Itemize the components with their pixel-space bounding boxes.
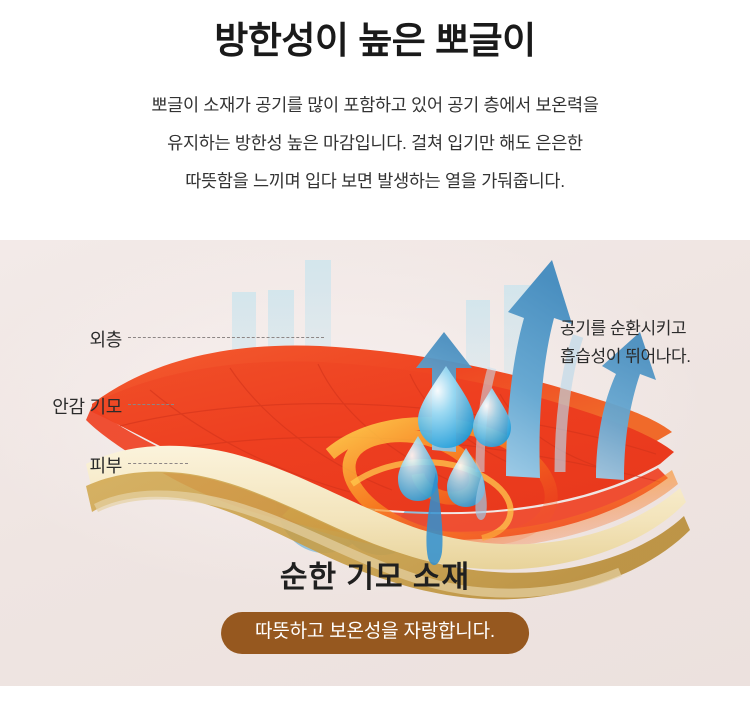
side-note: 공기를 순환시키고 흡습성이 뛰어나다.: [560, 315, 745, 371]
bottom-heading: 순한 기모 소재: [0, 552, 750, 596]
leader-line-outer: [128, 337, 324, 338]
label-outer-layer: 외층: [0, 326, 122, 352]
header-description: 뽀글이 소재가 공기를 많이 포함하고 있어 공기 층에서 보온력을 유지하는 …: [0, 86, 750, 200]
page-title: 방한성이 높은 뽀글이: [0, 18, 750, 64]
label-lining-layer: 안감 기모: [0, 393, 122, 419]
benefit-pill-badge: 따뜻하고 보온성을 자랑합니다.: [221, 612, 529, 654]
side-note-line-2: 흡습성이 뛰어나다.: [560, 343, 745, 371]
leader-line-lining: [128, 404, 174, 405]
illustration-panel: 외층 안감 기모 피부 공기를 순환시키고 흡습성이 뛰어나다. 순한 기모 소…: [0, 240, 750, 686]
description-line-1: 뽀글이 소재가 공기를 많이 포함하고 있어 공기 층에서 보온력을: [0, 86, 750, 124]
side-note-line-1: 공기를 순환시키고: [560, 315, 745, 343]
description-line-3: 따뜻함을 느끼며 입다 보면 발생하는 열을 가둬줍니다.: [0, 162, 750, 200]
label-skin-layer: 피부: [0, 452, 122, 478]
description-line-2: 유지하는 방한성 높은 마감입니다. 걸쳐 입기만 해도 은은한: [0, 124, 750, 162]
product-infographic: 방한성이 높은 뽀글이 뽀글이 소재가 공기를 많이 포함하고 있어 공기 층에…: [0, 0, 750, 702]
leader-line-skin: [128, 463, 188, 464]
header-section: 방한성이 높은 뽀글이 뽀글이 소재가 공기를 많이 포함하고 있어 공기 층에…: [0, 0, 750, 240]
